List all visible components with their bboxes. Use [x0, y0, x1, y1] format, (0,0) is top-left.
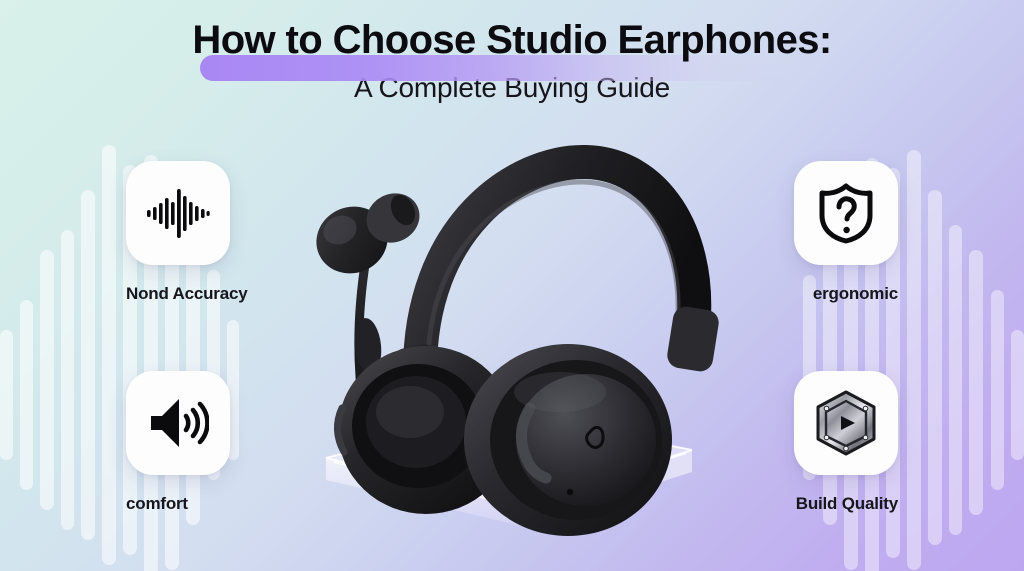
feature-build-quality[interactable]: Build Quality: [688, 371, 898, 514]
page-title: How to Choose Studio Earphones:: [192, 18, 831, 63]
title-line: How to Choose Studio Earphones:: [192, 18, 831, 63]
headband-slider-right: [665, 305, 720, 373]
waveform-bar: [81, 190, 95, 540]
speaker-volume-icon: [147, 395, 209, 451]
earcup-right: [464, 344, 672, 536]
feature-card-ergonomic[interactable]: [794, 161, 898, 265]
waveform-bar: [40, 250, 54, 510]
feature-card-comfort[interactable]: [126, 371, 230, 475]
shield-question-icon: [818, 182, 874, 244]
feature-card-sound-accuracy[interactable]: [126, 161, 230, 265]
waveform-bar: [949, 225, 962, 535]
feature-comfort[interactable]: comfort: [126, 371, 336, 514]
waveform-bar: [991, 290, 1004, 490]
headphones-illustration: [268, 140, 738, 540]
waveform-bar: [102, 145, 116, 565]
feature-label-build-quality: Build Quality: [688, 494, 898, 514]
waveform-bar: [969, 250, 983, 515]
waveform-bar: [0, 330, 13, 460]
feature-ergonomic[interactable]: ergonomic: [688, 161, 898, 304]
waveform-bar: [1011, 330, 1024, 460]
feature-label-sound-accuracy: Nond Accuracy: [126, 284, 336, 304]
header-block: How to Choose Studio Earphones: A Comple…: [0, 18, 1024, 104]
waveform-bar: [928, 190, 942, 545]
waveform-bar: [20, 300, 33, 490]
waveform-bar: [61, 230, 74, 530]
waveform-bar: [907, 150, 921, 570]
feature-sound-accuracy[interactable]: Nond Accuracy: [126, 161, 336, 304]
product-image-headphones: [268, 140, 738, 540]
feature-label-comfort: comfort: [126, 494, 336, 514]
hexagon-shield-badge-icon: [814, 390, 878, 456]
feature-label-ergonomic: ergonomic: [688, 284, 898, 304]
poster-canvas: How to Choose Studio Earphones: A Comple…: [0, 0, 1024, 571]
microphone-port-icon: [567, 489, 573, 495]
audio-waveform-icon: [146, 187, 210, 239]
feature-card-build-quality[interactable]: [794, 371, 898, 475]
